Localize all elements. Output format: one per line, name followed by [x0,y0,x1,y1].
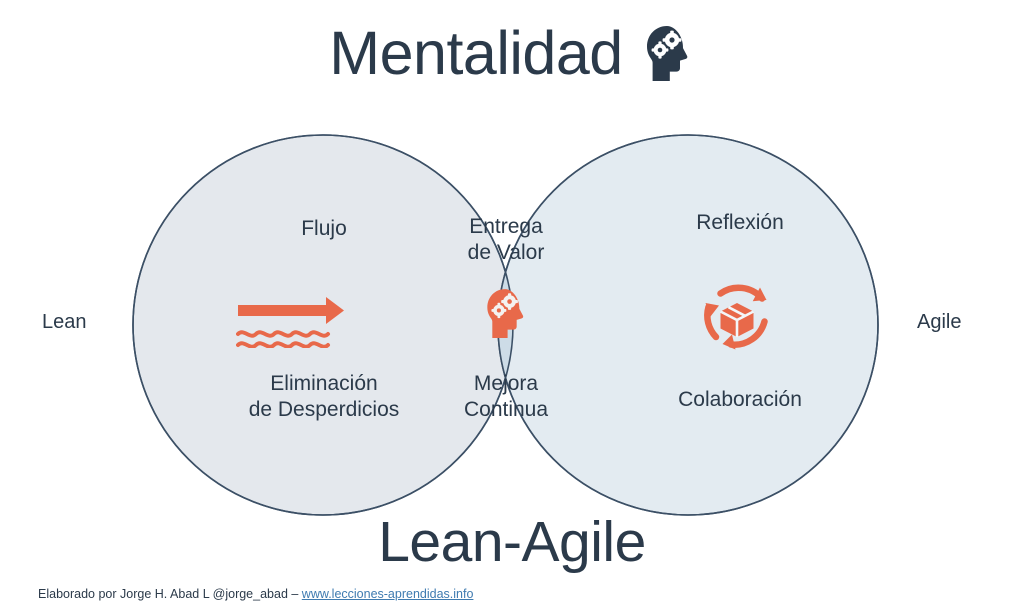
iteration-box-icon [700,281,774,353]
flow-arrow-icon [236,293,348,348]
footer: Elaborado por Jorge H. Abad L @jorge_aba… [38,587,473,601]
bottom-title: Lean-Agile [0,514,1024,571]
head-gears-orange-icon [482,286,530,342]
agile-item-reflexion: Reflexión [637,210,843,236]
venn-circle-right [498,135,878,515]
footer-link[interactable]: www.lecciones-aprendidas.info [302,587,474,601]
lean-item-flujo: Flujo [193,216,455,242]
flow-icon-container [236,293,348,348]
value-icon-container [482,286,530,342]
iteration-icon-container [700,281,774,353]
label-agile: Agile [917,311,961,334]
label-lean: Lean [42,311,87,334]
agile-item-colaboracion: Colaboración [617,387,863,413]
overlap-item-mejora-continua: Mejora Continua [425,371,587,424]
overlap-item-entrega-de-valor: Entrega de Valor [425,214,587,267]
footer-credit: Elaborado por Jorge H. Abad L @jorge_aba… [38,587,302,601]
